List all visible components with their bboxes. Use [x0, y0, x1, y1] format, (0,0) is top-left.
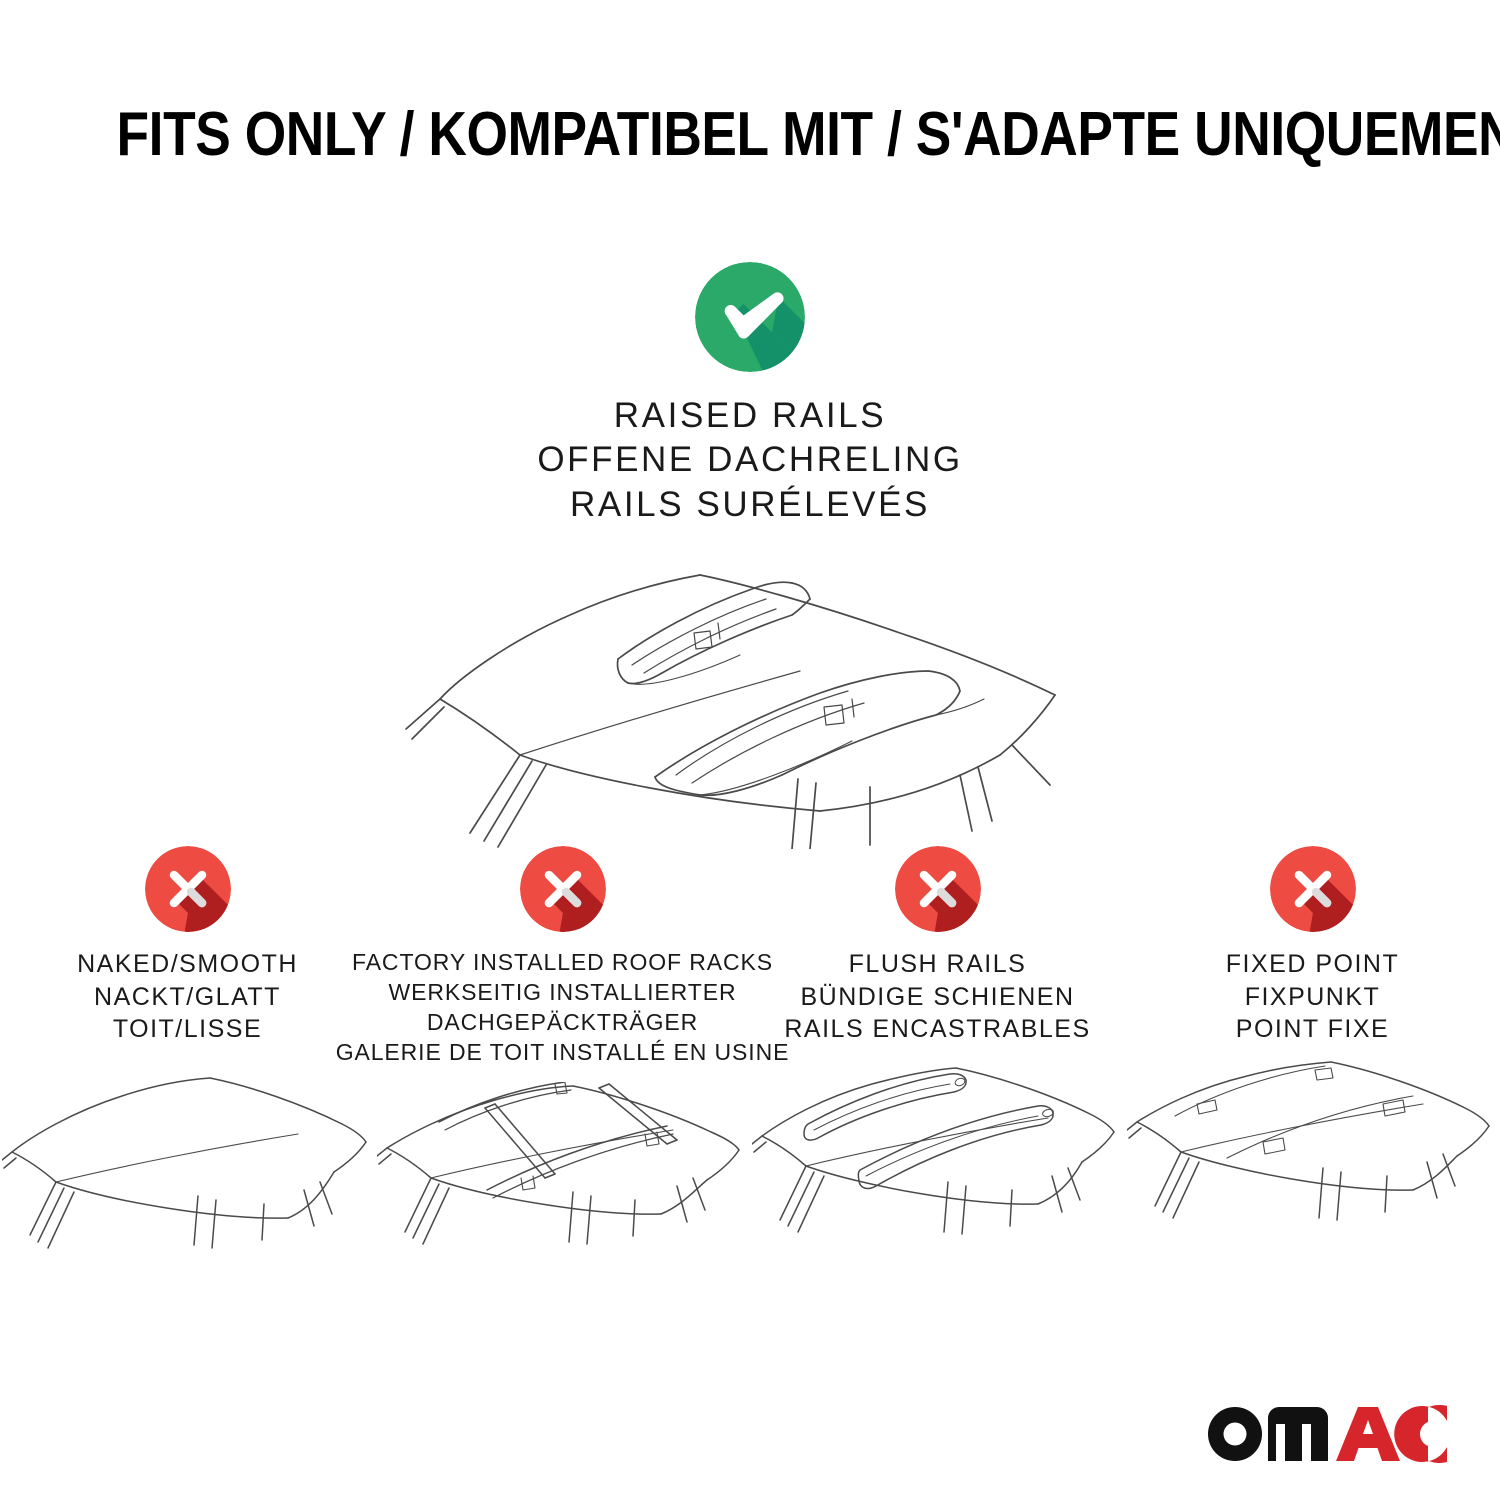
car-roof-factory-racks-drawing: [377, 1082, 749, 1297]
compatible-caption-line-3: RAILS SURÉLEVÉS: [537, 483, 962, 527]
caption-line: POINT FIXE: [1226, 1013, 1399, 1046]
x-circle-icon: [895, 846, 981, 932]
compatible-caption: RAISED RAILS OFFENE DACHRELING RAILS SUR…: [537, 394, 962, 527]
x-circle-icon: [520, 846, 606, 932]
incompatible-columns: NAKED/SMOOTH NACKT/GLATT TOIT/LISSE: [0, 846, 1500, 1297]
compatible-section: RAISED RAILS OFFENE DACHRELING RAILS SUR…: [0, 262, 1500, 849]
omac-logo: [1202, 1398, 1452, 1464]
car-roof-raised-rails-drawing: [400, 549, 1100, 849]
x-circle-icon: [145, 846, 231, 932]
incompatible-column-naked-smooth: NAKED/SMOOTH NACKT/GLATT TOIT/LISSE: [0, 846, 375, 1275]
x-circle-icon: [1270, 846, 1356, 932]
incompatible-caption-flush-rails: FLUSH RAILS BÜNDIGE SCHIENEN RAILS ENCAS…: [784, 948, 1090, 1046]
caption-line: FACTORY INSTALLED ROOF RACKS: [336, 948, 790, 978]
incompatible-caption-fixed-point: FIXED POINT FIXPUNKT POINT FIXE: [1226, 948, 1399, 1046]
caption-line: BÜNDIGE SCHIENEN: [784, 981, 1090, 1014]
page-title: FITS ONLY / KOMPATIBEL MIT / S'ADAPTE UN…: [117, 104, 1500, 166]
caption-line: TOIT/LISSE: [77, 1013, 298, 1046]
caption-line: GALERIE DE TOIT INSTALLÉ EN USINE: [336, 1038, 790, 1068]
caption-line: DACHGEPÄCKTRÄGER: [336, 1008, 790, 1038]
caption-line: FIXED POINT: [1226, 948, 1399, 981]
car-roof-fixed-point-drawing: [1127, 1060, 1499, 1275]
incompatible-column-factory-racks: FACTORY INSTALLED ROOF RACKS WERKSEITIG …: [375, 846, 750, 1297]
incompatible-caption-naked-smooth: NAKED/SMOOTH NACKT/GLATT TOIT/LISSE: [77, 948, 298, 1046]
check-circle-icon: [695, 262, 805, 372]
caption-line: NAKED/SMOOTH: [77, 948, 298, 981]
caption-line: RAILS ENCASTRABLES: [784, 1013, 1090, 1046]
car-roof-flush-rails-drawing: [752, 1060, 1124, 1275]
car-roof-naked-drawing: [2, 1060, 374, 1275]
incompatible-caption-factory-racks: FACTORY INSTALLED ROOF RACKS WERKSEITIG …: [336, 948, 790, 1068]
caption-line: WERKSEITIG INSTALLIERTER: [336, 978, 790, 1008]
compatible-caption-line-1: RAISED RAILS: [537, 394, 962, 438]
page-title-bar: FITS ONLY / KOMPATIBEL MIT / S'ADAPTE UN…: [0, 104, 1500, 166]
caption-line: FIXPUNKT: [1226, 981, 1399, 1014]
incompatible-column-fixed-point: FIXED POINT FIXPUNKT POINT FIXE: [1125, 846, 1500, 1275]
caption-line: FLUSH RAILS: [784, 948, 1090, 981]
incompatible-column-flush-rails: FLUSH RAILS BÜNDIGE SCHIENEN RAILS ENCAS…: [750, 846, 1125, 1275]
compatible-caption-line-2: OFFENE DACHRELING: [537, 438, 962, 482]
caption-line: NACKT/GLATT: [77, 981, 298, 1014]
compatibility-infographic: FITS ONLY / KOMPATIBEL MIT / S'ADAPTE UN…: [0, 0, 1500, 1500]
